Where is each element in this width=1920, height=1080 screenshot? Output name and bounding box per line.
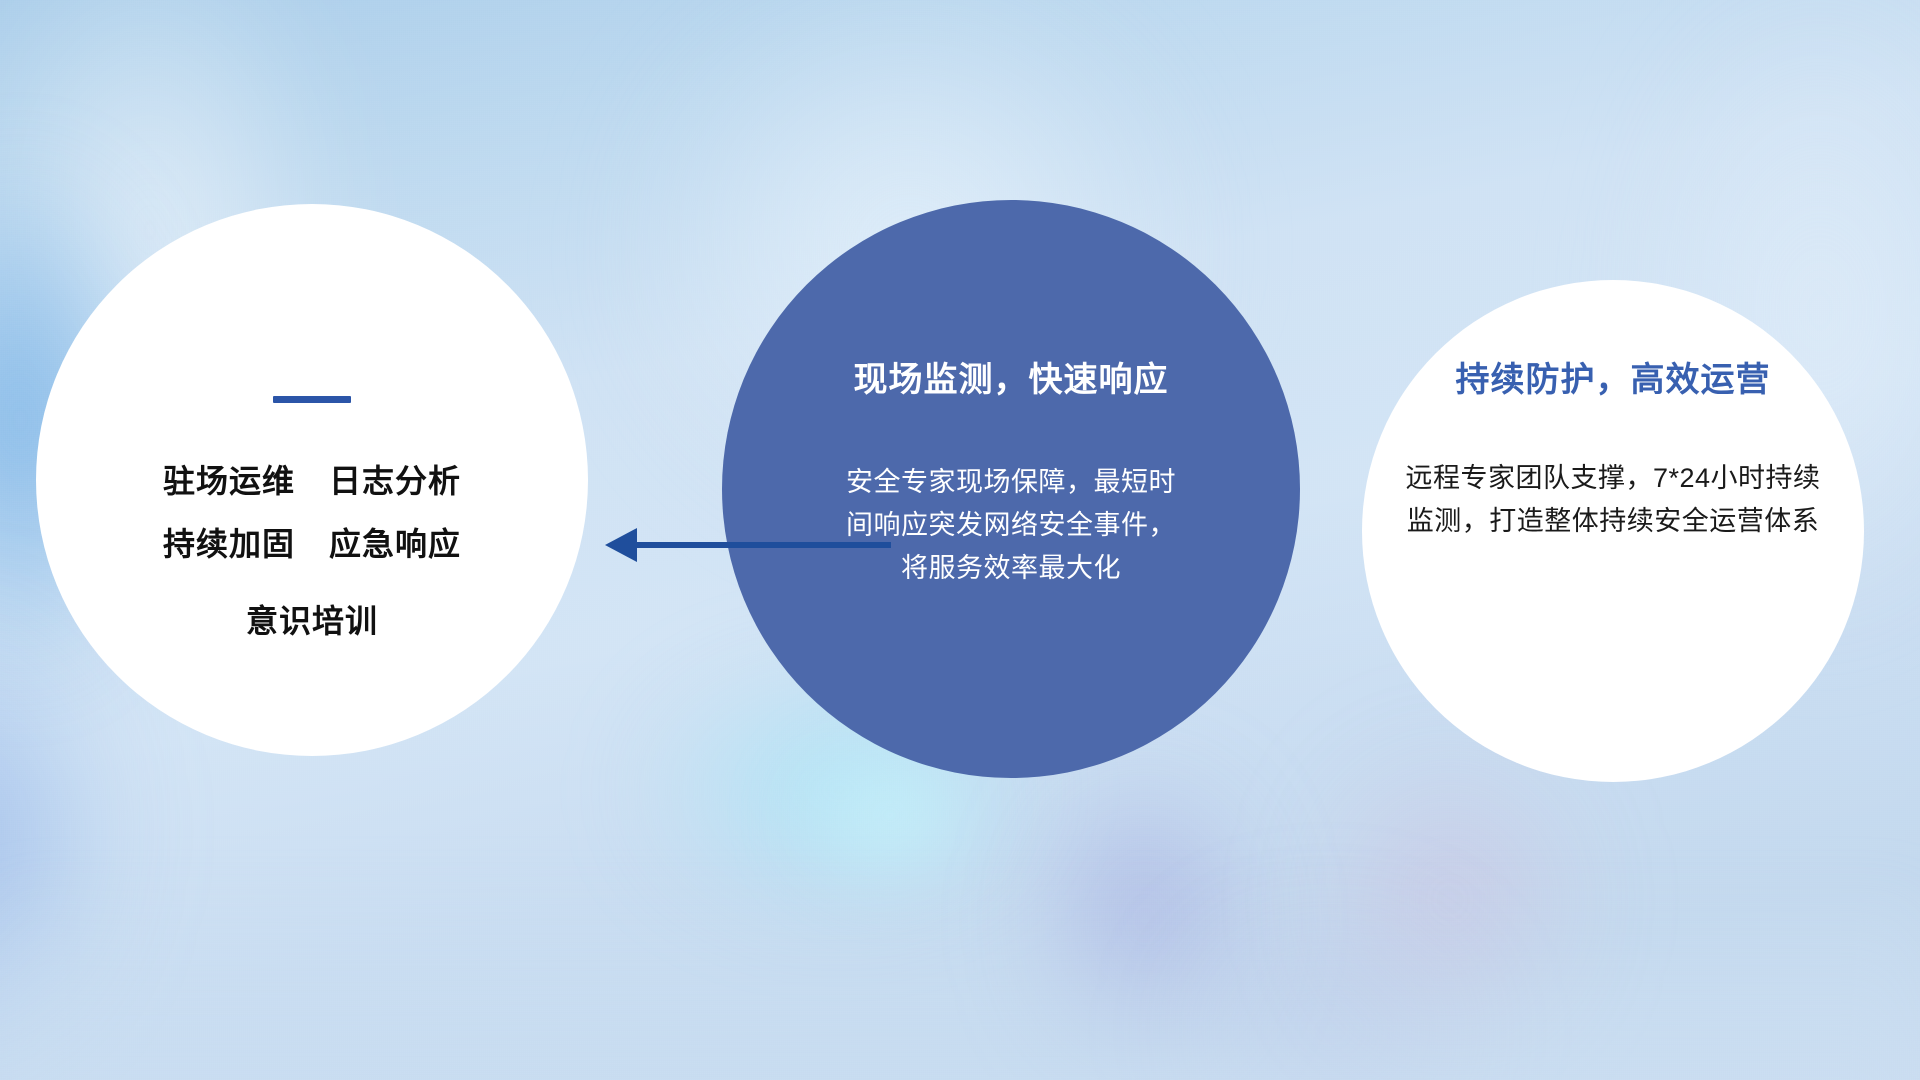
keyword-row: 持续加固 应急响应 — [163, 528, 461, 560]
keyword-tag: 日志分析 — [329, 465, 461, 497]
keyword-tag: 意识培训 — [246, 605, 378, 637]
middle-circle-content: 现场监测，快速响应 安全专家现场保障，最短时间响应突发网络安全事件，将服务效率最… — [722, 200, 1300, 778]
keyword-row-single: 意识培训 — [246, 605, 378, 637]
keyword-tag: 持续加固 — [163, 528, 295, 560]
keyword-row: 驻场运维 日志分析 — [163, 465, 461, 497]
left-circle-divider — [273, 396, 351, 403]
right-circle-body: 远程专家团队支撑，7*24小时持续监测，打造整体持续安全运营体系 — [1403, 457, 1823, 542]
right-circle-title: 持续防护，高效运营 — [1456, 362, 1771, 399]
left-circle-content: 驻场运维 日志分析 持续加固 应急响应 意识培训 — [36, 204, 588, 756]
slide-canvas: 驻场运维 日志分析 持续加固 应急响应 意识培训 现场监测，快速响应 安全专家现… — [0, 0, 1920, 1080]
left-circle-keyword-rows: 驻场运维 日志分析 持续加固 应急响应 意识培训 — [163, 465, 461, 637]
keyword-tag: 驻场运维 — [163, 465, 295, 497]
right-circle-content: 持续防护，高效运营 远程专家团队支撑，7*24小时持续监测，打造整体持续安全运营… — [1362, 280, 1864, 782]
middle-circle-title: 现场监测，快速响应 — [854, 362, 1169, 399]
middle-circle-body: 安全专家现场保障，最短时间响应突发网络安全事件，将服务效率最大化 — [841, 461, 1181, 589]
keyword-tag: 应急响应 — [329, 528, 461, 560]
